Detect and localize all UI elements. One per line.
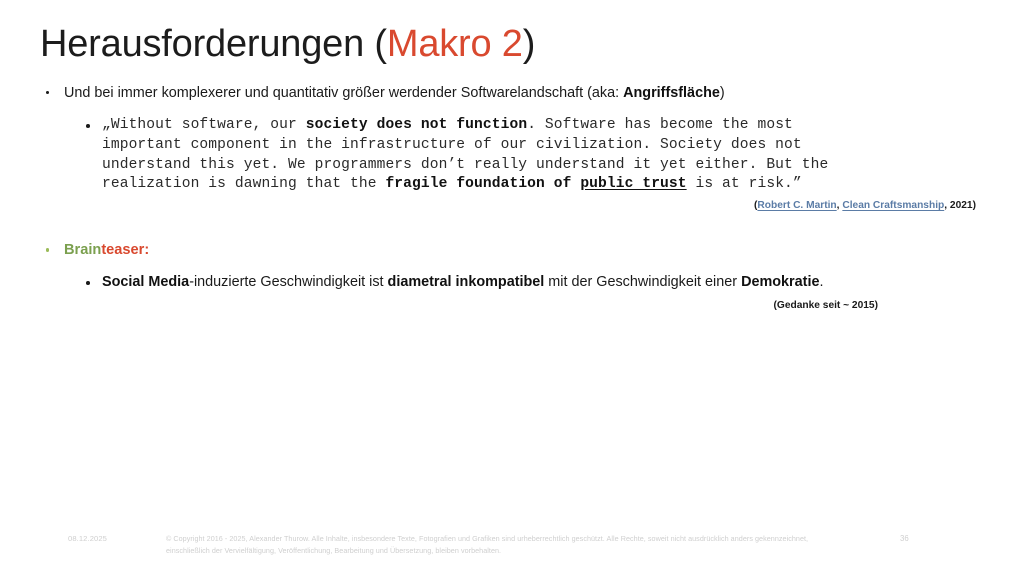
footer-date: 08.12.2025 [68,534,107,543]
note-gedanke: (Gedanke seit ~ 2015) [0,300,1024,311]
bullet-social-media: Social Media-induzierte Geschwindigkeit … [80,273,1024,292]
quote-text: „Without software, our society does not … [102,116,1024,195]
quote-seg-4-bold: fragile foundation of [385,176,580,192]
spacer [0,103,1024,116]
citation-close-paren: ) [973,200,976,211]
footer-page-number: 36 [900,534,909,543]
spacer [0,260,1024,273]
spacer [0,211,1024,241]
slide-body: Und bei immer komplexerer und quantitati… [0,84,1024,311]
bullet-dot-icon [46,91,49,94]
page-title: Herausforderungen (Makro 2) [40,23,535,66]
social-text-2: mit der Geschwindigkeit einer [544,274,741,290]
page-title-main: Herausforderungen ( [40,23,387,65]
bullet-brainteaser: Brainteaser: [40,241,1024,260]
bullet-quote: „Without software, our society does not … [80,116,1024,195]
bullet-dot-icon [86,124,90,128]
bullet-dot-icon [46,248,49,251]
quote-seg-6: is at risk.” [687,176,802,192]
brainteaser-label-green: Brain [64,242,101,258]
social-bold-1: Social Media [102,274,189,290]
social-bold-3: Demokratie [741,274,819,290]
quote-seg-1: „Without software, our [102,117,306,133]
citation: (Robert C. Martin, Clean Craftsmanship, … [0,200,1024,211]
quote-seg-5-bold-underline: public trust [580,176,686,192]
bullet-text-after: ) [720,85,725,101]
footer: 08.12.2025 © Copyright 2016 - 2025, Alex… [0,531,1024,565]
citation-author-link[interactable]: Robert C. Martin [757,200,836,211]
page-title-tail: ) [523,23,535,65]
bullet-text-bold: Angriffsfläche [623,85,720,101]
bullet-softwarelandschaft: Und bei immer komplexerer und quantitati… [40,84,1024,103]
social-text-1: -induzierte Geschwindigkeit ist [189,274,387,290]
slide: Herausforderungen (Makro 2) Und bei imme… [0,0,1024,575]
quote-seg-2-bold: society does not function [306,117,527,133]
brainteaser-label-red: teaser: [101,242,149,258]
citation-work-link[interactable]: Clean Craftsmanship [842,200,944,211]
bullet-text-before: Und bei immer komplexerer und quantitati… [64,85,623,101]
social-text-3: . [819,274,823,290]
bullet-dot-icon [86,281,90,285]
social-bold-2: diametral inkompatibel [388,274,545,290]
page-title-accent: Makro 2 [387,23,523,65]
citation-year: 2021 [950,200,973,211]
footer-copyright: © Copyright 2016 - 2025, Alexander Thuro… [166,533,846,557]
